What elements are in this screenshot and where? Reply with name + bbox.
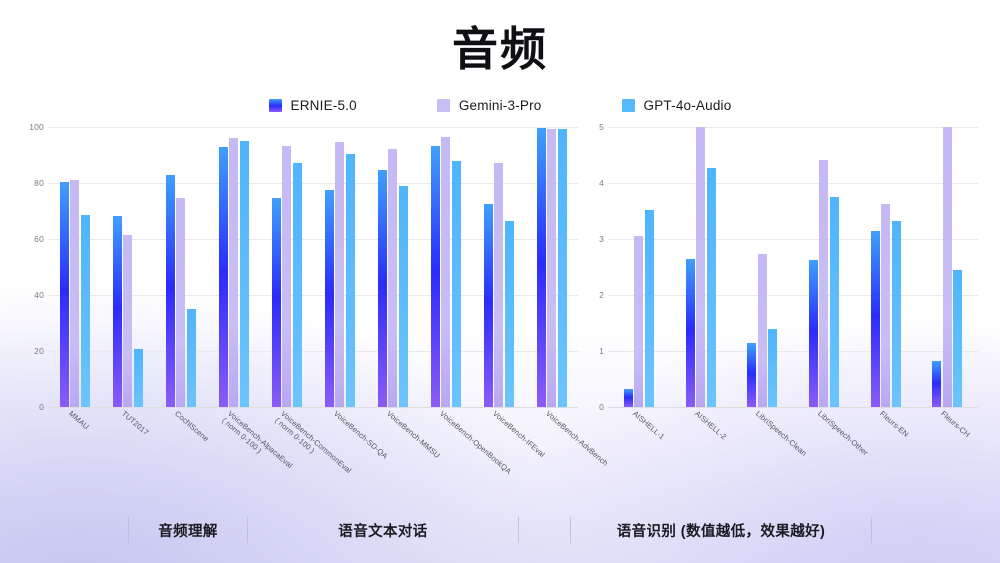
bar-ernie — [484, 204, 493, 407]
charts-container: 020406080100 MMAUTUT2017CochlSceneVoiceB… — [0, 127, 1000, 473]
x-axis-right: AISHELL-1AISHELL-2LibriSpeech-CleanLibri… — [608, 407, 978, 473]
bar-group — [472, 127, 525, 407]
bar-gpt — [953, 270, 962, 407]
footer-section-audio-understanding: 音频理解 — [129, 520, 247, 541]
bar-gemini — [229, 138, 238, 407]
bar-group — [670, 127, 732, 407]
x-tick-label: MMAU — [66, 409, 90, 432]
bar-groups-left — [48, 127, 578, 407]
bar-group — [419, 127, 472, 407]
legend-swatch-ernie — [269, 99, 282, 112]
bar-ernie — [166, 175, 175, 407]
bar-gemini — [696, 127, 705, 407]
bar-group — [525, 127, 578, 407]
bar-gpt — [399, 186, 408, 407]
x-tick-label: VoiceBench-IFEval — [490, 409, 546, 459]
footer-divider — [570, 517, 571, 543]
bar-gemini — [441, 137, 450, 407]
x-tick-label: AISHELL-1 — [631, 409, 667, 442]
y-axis-left: 020406080100 — [18, 127, 48, 407]
bar-group — [101, 127, 154, 407]
bar-gemini — [758, 254, 767, 407]
bar-ernie — [809, 260, 818, 407]
page-title: 音频 — [0, 0, 1000, 72]
bar-group — [366, 127, 419, 407]
y-tick-left-60: 60 — [34, 234, 44, 244]
y-axis-right: 012345 — [578, 127, 608, 407]
x-tick-label: CochlScene — [172, 409, 210, 444]
bar-gpt — [346, 154, 355, 407]
bar-ernie — [747, 343, 756, 407]
bar-group — [916, 127, 978, 407]
legend-label-gemini: Gemini-3-Pro — [459, 98, 542, 113]
bar-group — [48, 127, 101, 407]
plot-area-left — [48, 127, 578, 407]
footer-divider — [518, 517, 519, 543]
y-tick-left-100: 100 — [29, 122, 44, 132]
bar-gpt — [645, 210, 654, 407]
bar-gpt — [768, 329, 777, 407]
y-tick-right-3: 3 — [599, 234, 604, 244]
bar-gemini — [634, 236, 643, 407]
footer-section-speech-text-dialogue: 语音文本对话 — [248, 520, 518, 541]
bar-gemini — [335, 142, 344, 407]
bar-gemini — [388, 149, 397, 407]
bar-gpt — [558, 129, 567, 407]
bar-gpt — [81, 215, 90, 407]
bar-group — [154, 127, 207, 407]
bar-gemini — [494, 163, 503, 407]
bar-gpt — [187, 309, 196, 407]
bar-gemini — [70, 180, 79, 407]
bar-gemini — [176, 198, 185, 407]
footer-divider — [128, 517, 129, 543]
bar-gemini — [943, 127, 952, 407]
x-tick-label: VoiceBench-MMSU — [384, 409, 441, 460]
bar-group — [793, 127, 855, 407]
bar-group — [731, 127, 793, 407]
plot-area-right — [608, 127, 978, 407]
x-tick-label: Fleurs-CH — [939, 409, 972, 439]
bar-gpt — [707, 168, 716, 407]
x-tick-label: LibriSpeech-Other — [816, 409, 870, 458]
x-tick-label: AISHELL-2 — [692, 409, 728, 442]
y-tick-right-5: 5 — [599, 122, 604, 132]
bar-ernie — [60, 182, 69, 407]
bar-gemini — [819, 160, 828, 407]
footer-sections: 音频理解 语音文本对话 语音识别 (数值越低，效果越好) — [0, 517, 1000, 543]
chart-speech-recognition: 012345 AISHELL-1AISHELL-2LibriSpeech-Cle… — [578, 127, 978, 473]
bar-group — [260, 127, 313, 407]
y-tick-right-1: 1 — [599, 346, 604, 356]
bar-gpt — [293, 163, 302, 407]
legend-label-ernie: ERNIE-5.0 — [291, 98, 357, 113]
footer-section-speech-recognition: 语音识别 (数值越低，效果越好) — [571, 520, 871, 541]
bar-gpt — [830, 197, 839, 407]
y-tick-left-0: 0 — [39, 402, 44, 412]
bar-ernie — [113, 216, 122, 407]
x-tick-label: LibriSpeech-Clean — [754, 409, 809, 458]
bar-ernie — [431, 146, 440, 407]
x-tick-label: VoiceBench-SD-QA — [331, 409, 389, 461]
bar-gpt — [134, 349, 143, 407]
legend-label-gpt: GPT-4o-Audio — [644, 98, 732, 113]
legend-item-gpt: GPT-4o-Audio — [622, 98, 732, 113]
bar-gpt — [240, 141, 249, 407]
bar-group — [855, 127, 917, 407]
bar-ernie — [871, 231, 880, 407]
legend-swatch-gpt — [622, 99, 635, 112]
x-tick-label: TUT2017 — [119, 409, 150, 437]
bar-group — [608, 127, 670, 407]
bar-gemini — [881, 204, 890, 407]
bar-gemini — [547, 129, 556, 407]
bar-gemini — [123, 235, 132, 407]
x-axis-left: MMAUTUT2017CochlSceneVoiceBench-AlpacaEv… — [48, 407, 578, 473]
footer-divider — [871, 517, 872, 543]
x-tick-label: Fleurs-EN — [877, 409, 910, 439]
y-tick-right-0: 0 — [599, 402, 604, 412]
chart-legend: ERNIE-5.0 Gemini-3-Pro GPT-4o-Audio — [0, 98, 1000, 113]
bar-ernie — [272, 198, 281, 407]
legend-item-ernie: ERNIE-5.0 — [269, 98, 357, 113]
bar-group — [207, 127, 260, 407]
y-tick-right-4: 4 — [599, 178, 604, 188]
bar-ernie — [537, 128, 546, 407]
y-tick-left-40: 40 — [34, 290, 44, 300]
bar-gpt — [452, 161, 461, 407]
bar-ernie — [325, 190, 334, 407]
y-tick-left-20: 20 — [34, 346, 44, 356]
bar-ernie — [378, 170, 387, 407]
legend-swatch-gemini — [437, 99, 450, 112]
y-tick-left-80: 80 — [34, 178, 44, 188]
footer-divider — [247, 517, 248, 543]
chart-audio-understanding-and-dialogue: 020406080100 MMAUTUT2017CochlSceneVoiceB… — [18, 127, 578, 473]
bar-ernie — [932, 361, 941, 407]
bar-gpt — [505, 221, 514, 407]
legend-item-gemini: Gemini-3-Pro — [437, 98, 542, 113]
bar-group — [313, 127, 366, 407]
bar-ernie — [686, 259, 695, 407]
bar-gpt — [892, 221, 901, 407]
bar-ernie — [624, 389, 633, 407]
y-tick-right-2: 2 — [599, 290, 604, 300]
bar-groups-right — [608, 127, 978, 407]
bar-ernie — [219, 147, 228, 407]
bar-gemini — [282, 146, 291, 407]
